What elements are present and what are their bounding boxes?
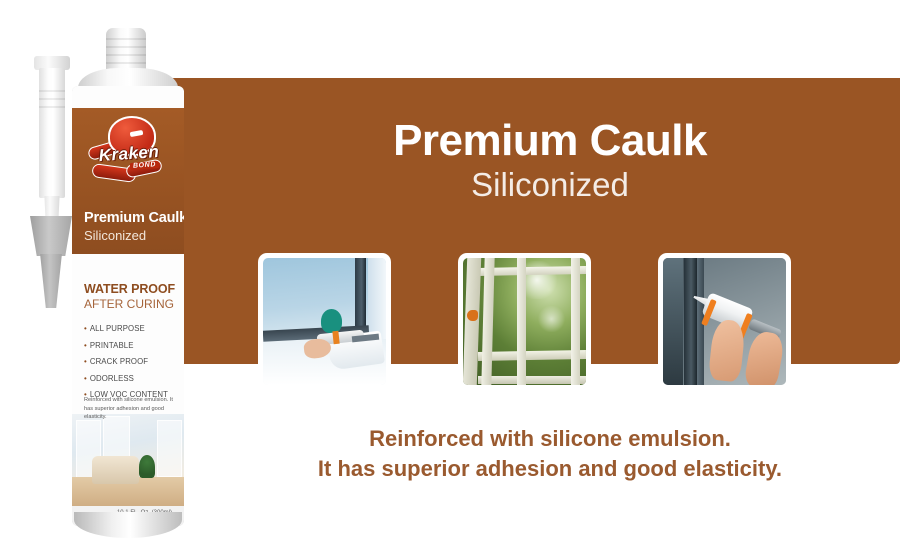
photo2-bottom-rail [478,376,586,384]
photo1-worker-helmet [321,309,342,333]
applicator-rib [39,90,65,92]
tube-description-note: Reinforced with silicone emulsion. It ha… [84,396,176,422]
cartridge-nozzle-thread [106,54,146,56]
photo3-glass-left [663,258,683,385]
label-photo-sofa [92,456,139,484]
photo2-meeting-rail [478,350,586,361]
photo2-sky-glow-secondary [537,306,567,331]
product-banner: Premium Caulk Siliconized [0,0,900,557]
label-photo-window [157,420,181,477]
headline-block: Premium Caulk Siliconized [200,118,900,204]
photo2-orange-accent [467,310,478,321]
applicator-grey-tip [38,254,64,308]
photo3-window-frame [684,258,698,385]
photo-caulk-gun-in-hands [663,258,786,385]
applicator-grey-sleeve [30,216,72,256]
photo-card-window-caulking [258,253,391,390]
label-photo-plant [139,455,155,479]
cartridge-base [74,512,182,538]
cartridge-nozzle-thread [106,38,146,40]
tagline-block: Reinforced with silicone emulsion. It ha… [200,424,900,485]
caulk-cartridge: Kraken BOND Premium Caulk Siliconized WA… [68,28,188,538]
kraken-bond-logo: Kraken BOND [86,114,172,186]
cartridge-threaded-nozzle [106,28,146,72]
applicator-body [39,68,65,198]
tube-claim-waterproof: WATER PROOF [84,282,175,296]
photo-white-sash-window [463,258,586,385]
applicator-rib [39,106,65,108]
photo2-sash-right [571,258,580,385]
photo-card-sash-window [458,253,591,390]
page-title: Premium Caulk [200,118,900,164]
cartridge-nozzle-thread [106,62,146,64]
tube-claim-after-curing: AFTER CURING [84,297,174,311]
applicator-rib [39,98,65,100]
photo2-sash-center [517,258,526,385]
cartridge-label: Kraken BOND Premium Caulk Siliconized WA… [72,86,184,526]
list-item: ODORLESS [84,374,168,383]
tube-product-subtitle: Siliconized [84,228,146,243]
tagline-line-2: It has superior adhesion and good elasti… [200,454,900,484]
photo-window-caulking-blue-glass [263,258,386,385]
photo-card-caulk-gun [658,253,791,390]
list-item: ALL PURPOSE [84,324,168,333]
label-interior-photo [72,414,184,506]
list-item: CRACK PROOF [84,357,168,366]
tube-product-title: Premium Caulk [84,210,184,226]
page-subtitle: Siliconized [200,166,900,204]
list-item: PRINTABLE [84,341,168,350]
cartridge-nozzle-thread [106,46,146,48]
tagline-line-1: Reinforced with silicone emulsion. [200,424,900,454]
product-caulk-tube: Kraken BOND Premium Caulk Siliconized WA… [18,28,198,538]
label-top-white-band [72,86,184,108]
tube-feature-list: ALL PURPOSE PRINTABLE CRACK PROOF ODORLE… [84,324,168,407]
